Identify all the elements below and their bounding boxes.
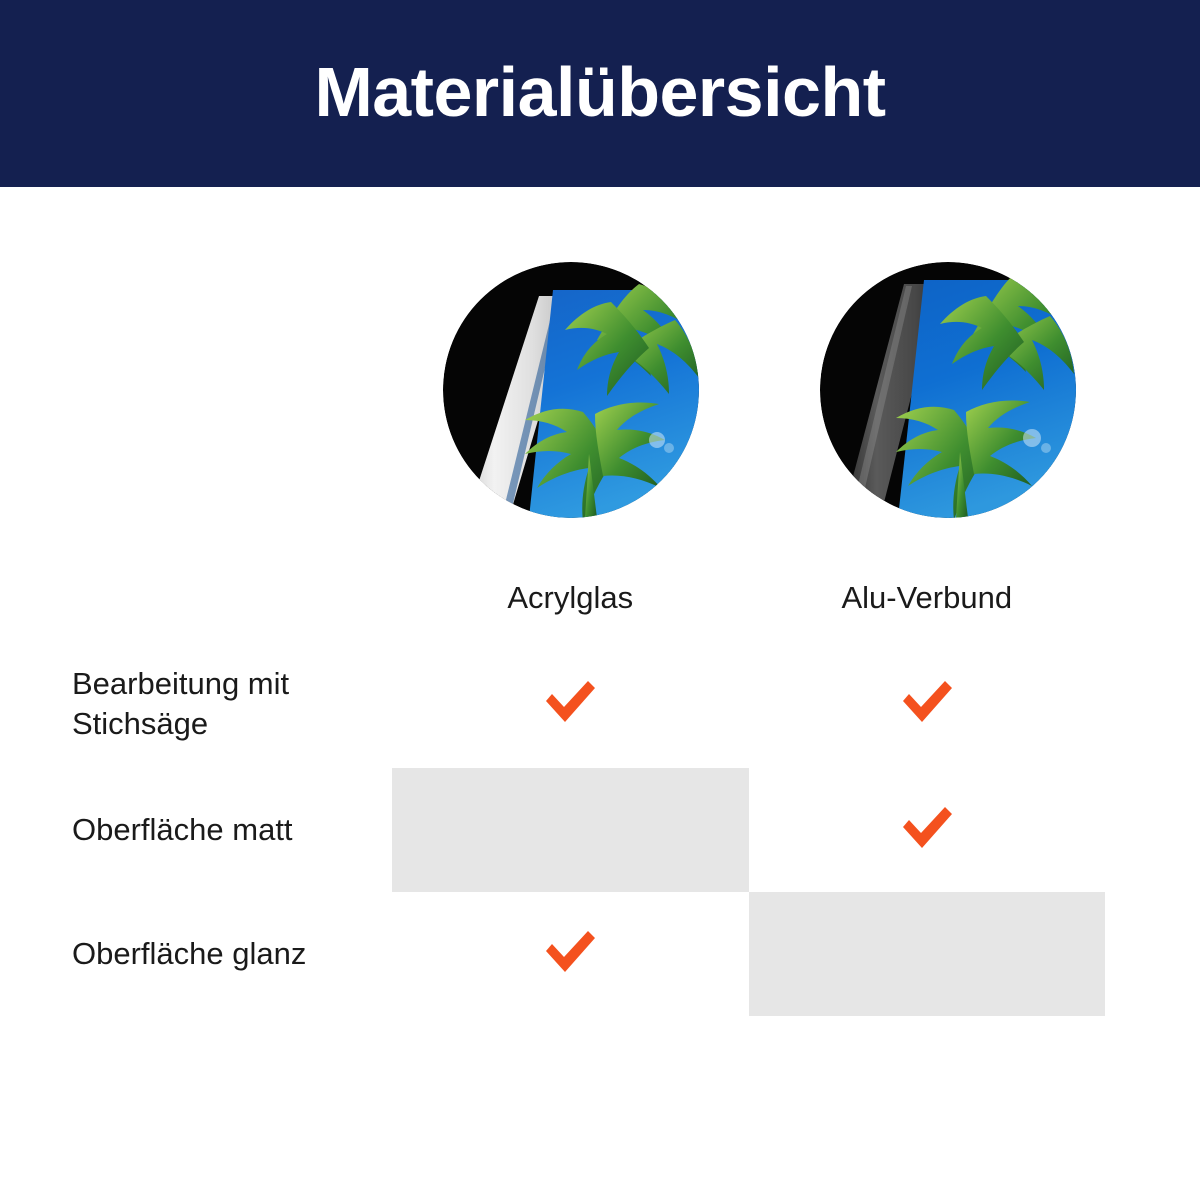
row-label-line1: Oberfläche glanz (72, 936, 306, 971)
alu-verbund-preview-image (820, 262, 1076, 518)
row-label-oberflaeche-glanz: Oberfläche glanz (72, 892, 392, 1016)
row-label-bearbeitung-mit-stichsaege: Bearbeitung mit Stichsäge (72, 640, 392, 768)
cell-matt-acrylglas-unavailable (392, 768, 749, 892)
table-header: Acrylglas Alu-Verbund (72, 556, 1105, 640)
cell-matt-alu-verbund (749, 768, 1106, 892)
cell-glanz-alu-verbund-unavailable (749, 892, 1106, 1016)
table-header-row: Acrylglas Alu-Verbund (72, 556, 1105, 640)
row-label-line1: Bearbeitung mit (72, 666, 289, 701)
check-icon (542, 930, 598, 974)
row-label-oberflaeche-matt: Oberfläche matt (72, 768, 392, 892)
table-body: Bearbeitung mit Stichsäge (72, 640, 1105, 1016)
acrylglas-scene-svg (443, 262, 699, 518)
material-comparison-table-wrap: Acrylglas Alu-Verbund Bearbeitung mit St… (72, 556, 1105, 1014)
product-preview-row (0, 262, 1200, 518)
cell-bearbeitung-acrylglas (392, 640, 749, 768)
header-banner: Materialübersicht (0, 0, 1200, 187)
check-icon (542, 680, 598, 724)
row-label-line2: Stichsäge (72, 706, 208, 741)
column-header-blank (72, 556, 392, 640)
table-row: Oberfläche glanz (72, 892, 1105, 1016)
check-icon (899, 680, 955, 724)
material-overview-page: Materialübersicht (0, 0, 1200, 1200)
acrylglas-preview-image (443, 262, 699, 518)
check-icon (899, 806, 955, 850)
table-row: Oberfläche matt (72, 768, 1105, 892)
column-header-acrylglas: Acrylglas (392, 556, 749, 640)
alu-verbund-scene-svg (820, 262, 1076, 518)
cell-glanz-acrylglas (392, 892, 749, 1016)
row-label-line1: Oberfläche matt (72, 812, 293, 847)
material-comparison-table: Acrylglas Alu-Verbund Bearbeitung mit St… (72, 556, 1105, 1016)
table-row: Bearbeitung mit Stichsäge (72, 640, 1105, 768)
column-header-alu-verbund: Alu-Verbund (749, 556, 1106, 640)
page-title: Materialübersicht (314, 57, 885, 131)
cell-bearbeitung-alu-verbund (749, 640, 1106, 768)
